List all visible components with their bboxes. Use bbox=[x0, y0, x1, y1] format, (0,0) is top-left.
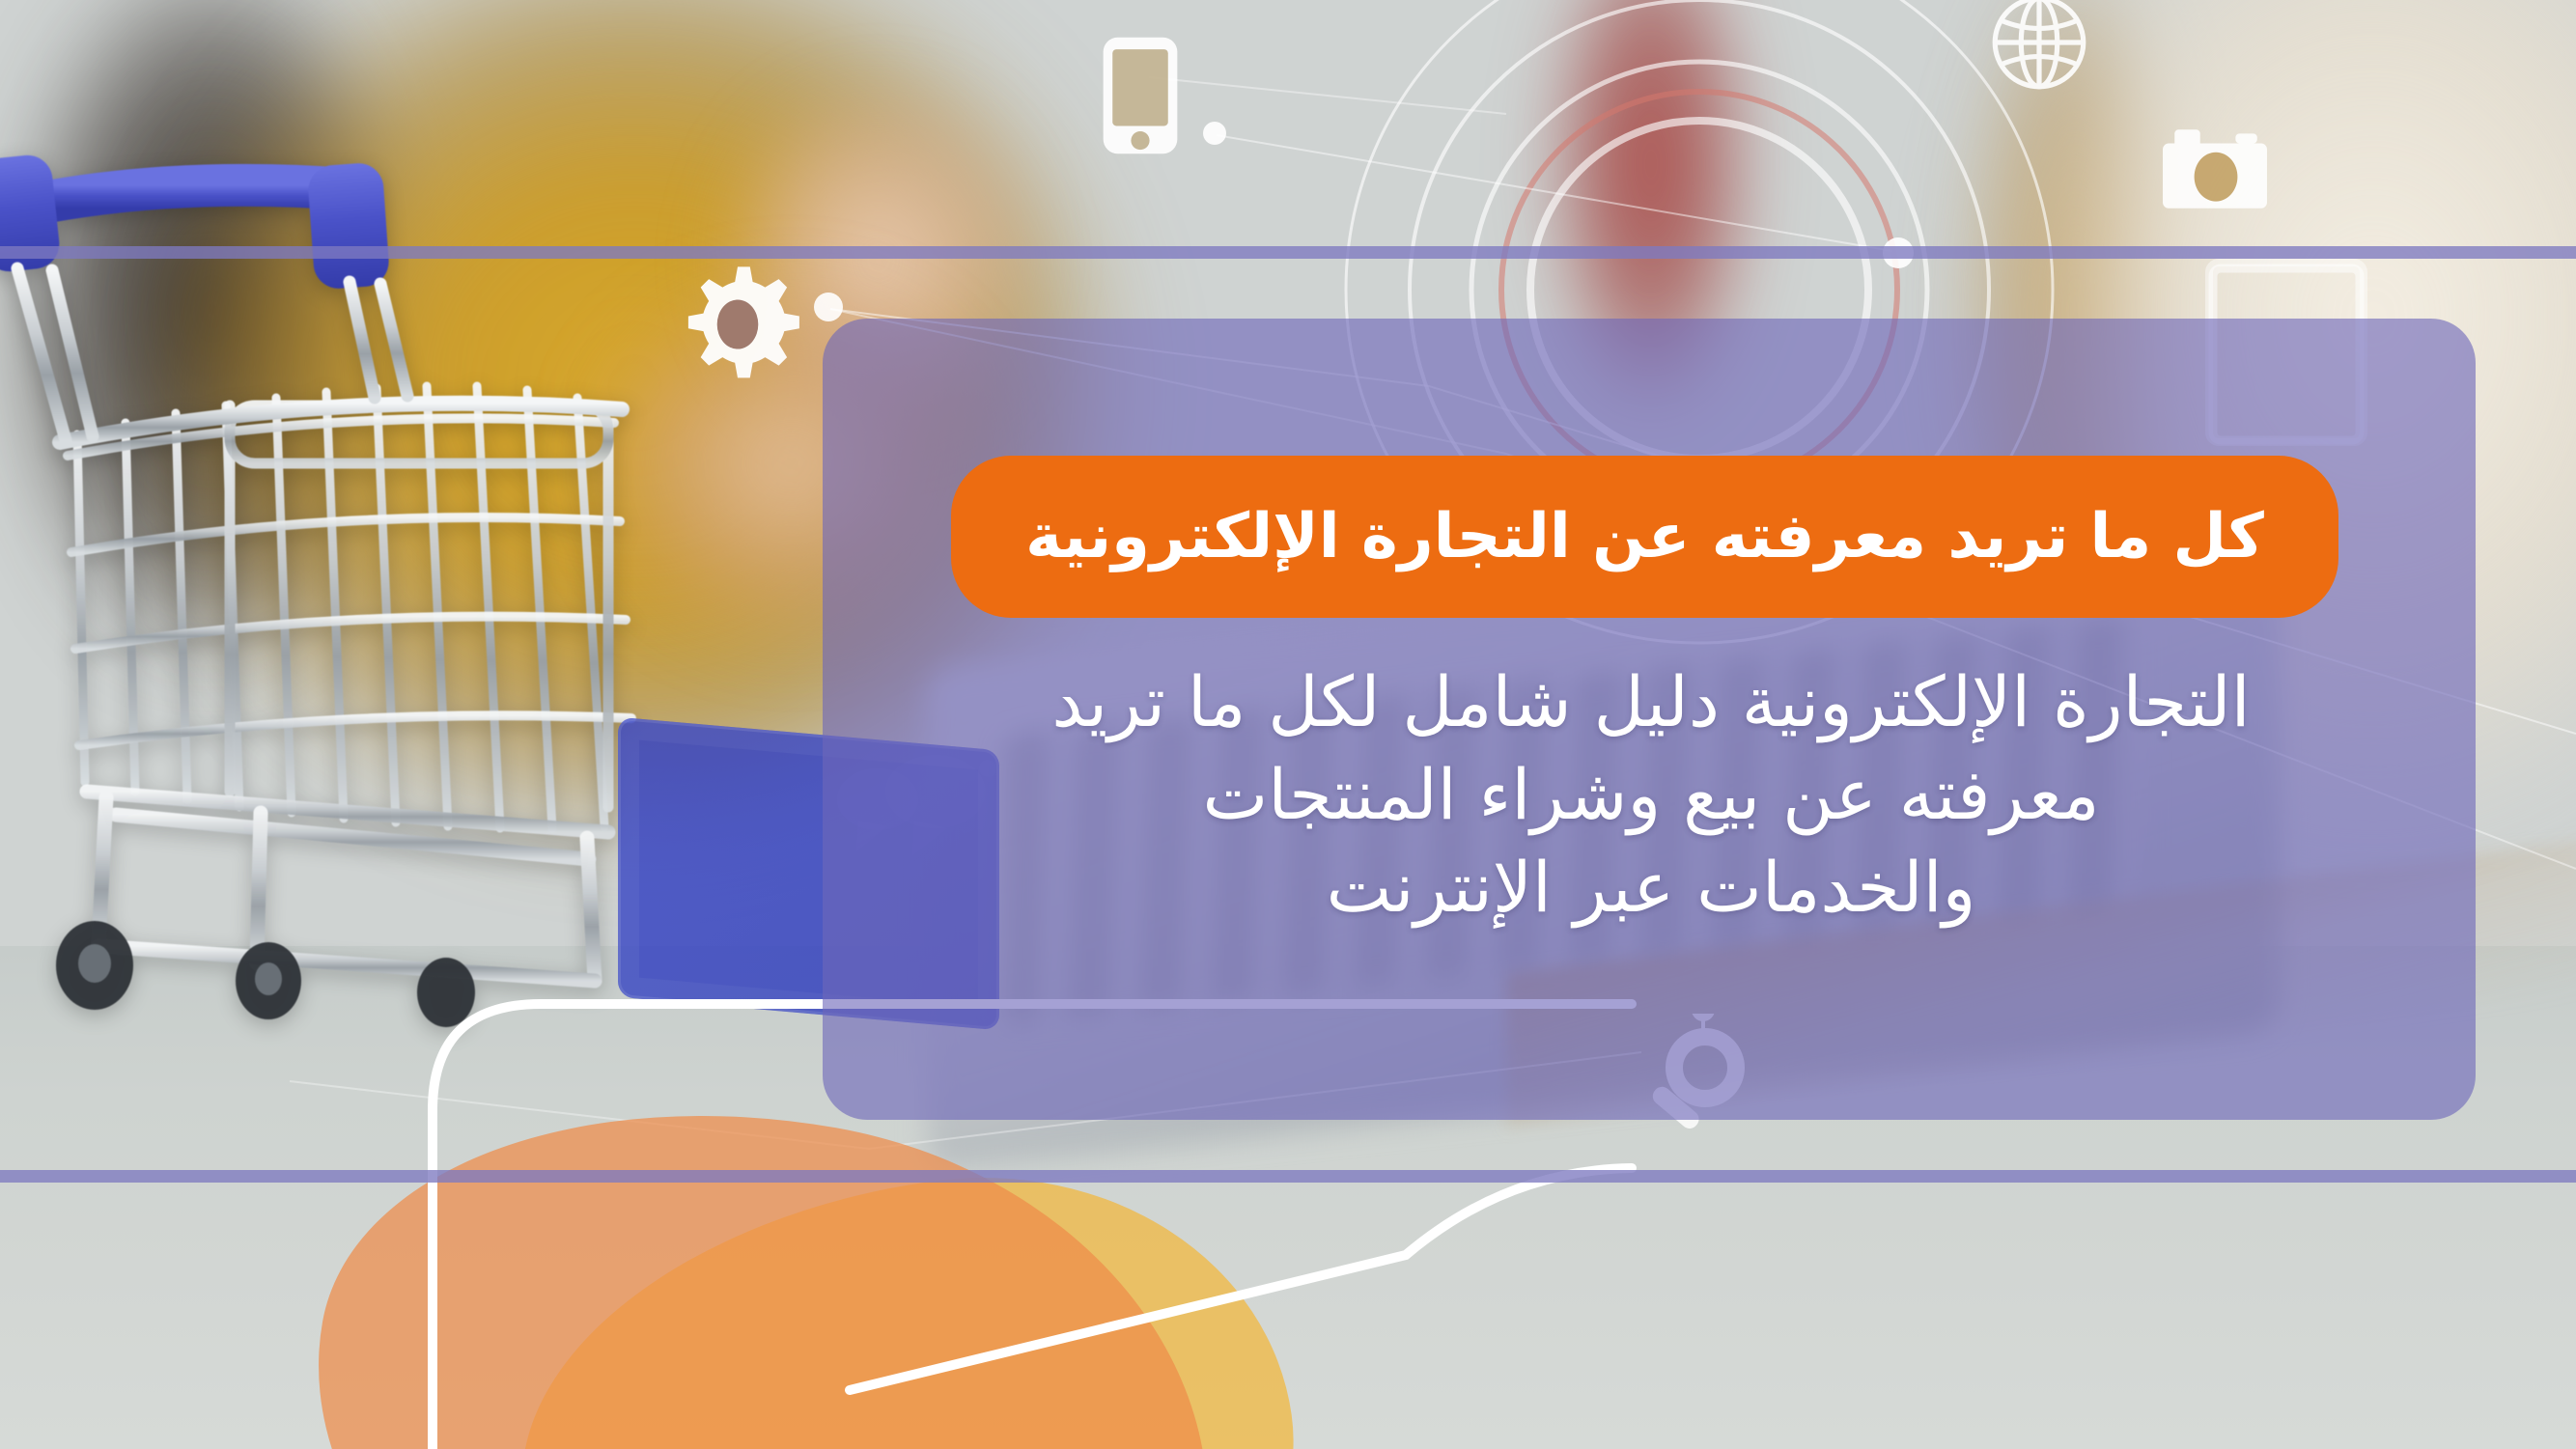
banner-stage: كل ما تريد معرفته عن التجارة الإلكترونية… bbox=[0, 0, 2576, 1449]
headline-pill: كل ما تريد معرفته عن التجارة الإلكترونية bbox=[951, 456, 2338, 618]
headline-text: كل ما تريد معرفته عن التجارة الإلكترونية bbox=[1025, 506, 2264, 568]
top-horizontal-rule bbox=[0, 246, 2576, 259]
body-line-3: والخدمات عبر الإنترنت bbox=[869, 842, 2433, 934]
gear-icon bbox=[669, 256, 806, 393]
body-line-2: معرفته عن بيع وشراء المنتجات bbox=[869, 749, 2433, 842]
body-paragraph: التجارة الإلكترونية دليل شامل لكل ما تري… bbox=[869, 656, 2433, 933]
camera-flash-dot-icon bbox=[2240, 162, 2254, 176]
globe-icon bbox=[1989, 0, 2089, 93]
smartphone-icon bbox=[1099, 35, 1182, 156]
body-line-1: التجارة الإلكترونية دليل شامل لكل ما تري… bbox=[869, 656, 2433, 749]
bottom-horizontal-rule bbox=[0, 1170, 2576, 1183]
